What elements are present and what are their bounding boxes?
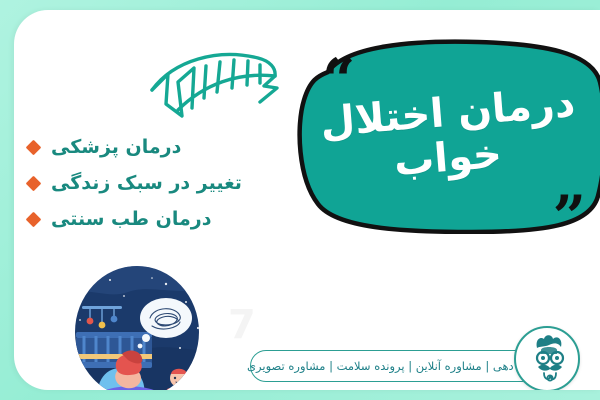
- quote-open-icon: “: [322, 60, 355, 101]
- services-label: نوبت دهی | مشاوره آنلاین | پرونده سلامت …: [247, 359, 541, 373]
- white-card: 7 درمان اختلال خواب “ ”: [14, 10, 600, 390]
- treatment-list: درمان پزشکی تغییر در سبک زندگی درمان طب …: [28, 136, 274, 230]
- list-item[interactable]: درمان طب سنتی: [28, 208, 274, 230]
- diamond-bullet-icon: [26, 139, 42, 155]
- striped-arrow-icon: [148, 46, 280, 130]
- brand-logo[interactable]: [514, 326, 580, 390]
- list-item-label: تغییر در سبک زندگی: [51, 172, 242, 194]
- list-item[interactable]: تغییر در سبک زندگی: [28, 172, 274, 194]
- title-speech-bubble: درمان اختلال خواب “ ”: [292, 38, 600, 234]
- services-pill[interactable]: نوبت دهی | مشاوره آنلاین | پرونده سلامت …: [250, 350, 538, 382]
- list-item-label: درمان طب سنتی: [51, 208, 211, 230]
- poster-canvas: 7 درمان اختلال خواب “ ”: [0, 0, 600, 400]
- sleep-disorder-illustration: [62, 266, 212, 390]
- diamond-bullet-icon: [26, 175, 42, 191]
- watermark: 7: [228, 302, 256, 348]
- list-item[interactable]: درمان پزشکی: [28, 136, 274, 158]
- doctor-mascot-icon: [520, 328, 578, 386]
- list-item-label: درمان پزشکی: [51, 136, 181, 158]
- quote-close-icon: ”: [553, 197, 586, 238]
- diamond-bullet-icon: [26, 211, 42, 227]
